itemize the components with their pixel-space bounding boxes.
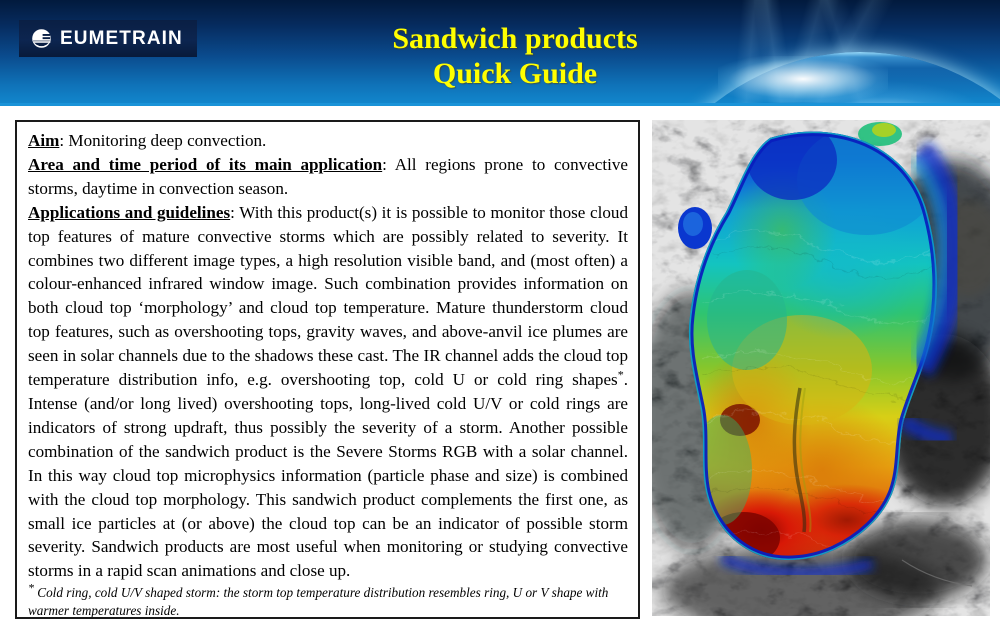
eumetrain-logo-text: EUMETRAIN (60, 29, 183, 48)
section-applications-body: With this product(s) it is possible to m… (28, 203, 628, 389)
earth-limb-arc-decoration (600, 52, 1000, 106)
earth-light-rays-decoration (570, 0, 990, 106)
title-line-2: Quick Guide (300, 56, 730, 91)
section-applications-separator: : (230, 203, 239, 222)
section-aim-body: Monitoring deep convection. (68, 131, 266, 150)
eumetrain-logo[interactable]: EUMETRAIN (19, 20, 197, 57)
earth-horizon-highlight-decoration (718, 56, 888, 102)
title-line-1: Sandwich products (300, 21, 730, 56)
footnote-text: Cold ring, cold U/V shaped storm: the st… (28, 585, 608, 617)
section-area-time-label: Area and time period of its main applica… (28, 155, 382, 174)
section-applications-label: Applications and guidelines (28, 203, 230, 222)
quick-guide-page: EUMETRAIN Sandwich products Quick Guide … (0, 0, 1000, 627)
guide-text-box: Aim: Monitoring deep convection. Area an… (15, 120, 640, 619)
earth-glow-decoration (600, 8, 1000, 106)
footnote: * Cold ring, cold U/V shaped storm: the … (28, 584, 628, 619)
section-aim: Aim: Monitoring deep convection. (28, 129, 628, 153)
section-aim-label: Aim (28, 131, 59, 150)
eumetrain-globe-icon (30, 27, 53, 50)
section-area-time: Area and time period of its main applica… (28, 153, 628, 201)
page-title: Sandwich products Quick Guide (300, 21, 730, 91)
section-applications: Applications and guidelines: With this p… (28, 201, 628, 584)
section-area-time-separator: : (382, 155, 395, 174)
sandwich-product-satellite-image (652, 120, 990, 616)
banner-bottom-rule (0, 103, 1000, 106)
section-applications-body-continued: . Intense (and/or long lived) overshooti… (28, 370, 628, 580)
header-banner: EUMETRAIN Sandwich products Quick Guide (0, 0, 1000, 106)
